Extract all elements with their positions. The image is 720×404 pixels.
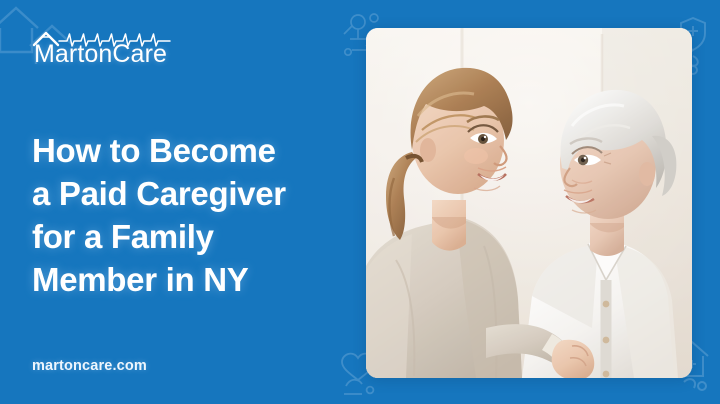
promo-banner: MartonCare How to Become a Paid Caregive… [0, 0, 720, 404]
headline-line-4: Member in NY [32, 258, 286, 301]
hero-photo [366, 28, 692, 378]
brand-logo[interactable]: MartonCare [32, 28, 242, 72]
headline-line-1: How to Become [32, 129, 286, 172]
headline-line-2: a Paid Caregiver [32, 172, 286, 215]
site-url[interactable]: martoncare.com [32, 358, 336, 374]
hero-photo-illustration [366, 28, 692, 378]
content-column: MartonCare How to Become a Paid Caregive… [0, 0, 360, 404]
brand-logo-text: MartonCare [34, 40, 167, 69]
page-title: How to Become a Paid Caregiver for a Fam… [32, 129, 286, 302]
headline-line-3: for a Family [32, 215, 286, 258]
headline-block: How to Become a Paid Caregiver for a Fam… [32, 72, 336, 358]
